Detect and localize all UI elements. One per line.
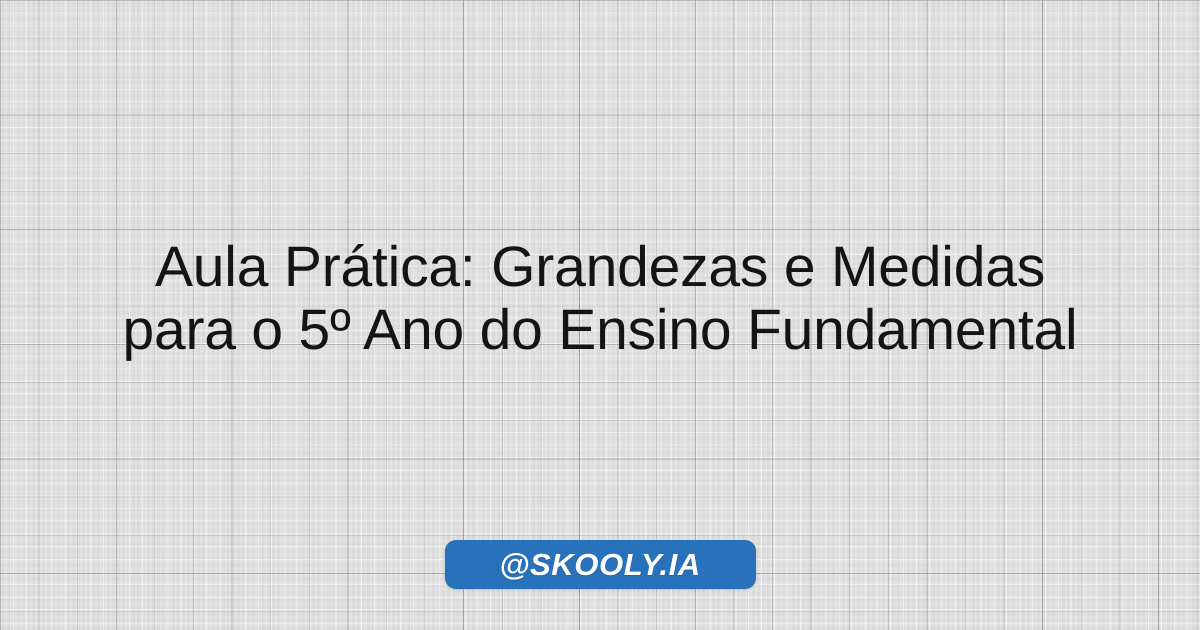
- badge-container: @SKOOLY.IA: [0, 540, 1200, 589]
- title-container: Aula Prática: Grandezas e Medidas para o…: [0, 236, 1200, 362]
- page-title: Aula Prática: Grandezas e Medidas para o…: [12, 236, 1188, 362]
- brand-handle-label: @SKOOLY.IA: [499, 549, 701, 580]
- share-card: Aula Prática: Grandezas e Medidas para o…: [0, 0, 1200, 630]
- brand-handle-badge[interactable]: @SKOOLY.IA: [445, 540, 756, 589]
